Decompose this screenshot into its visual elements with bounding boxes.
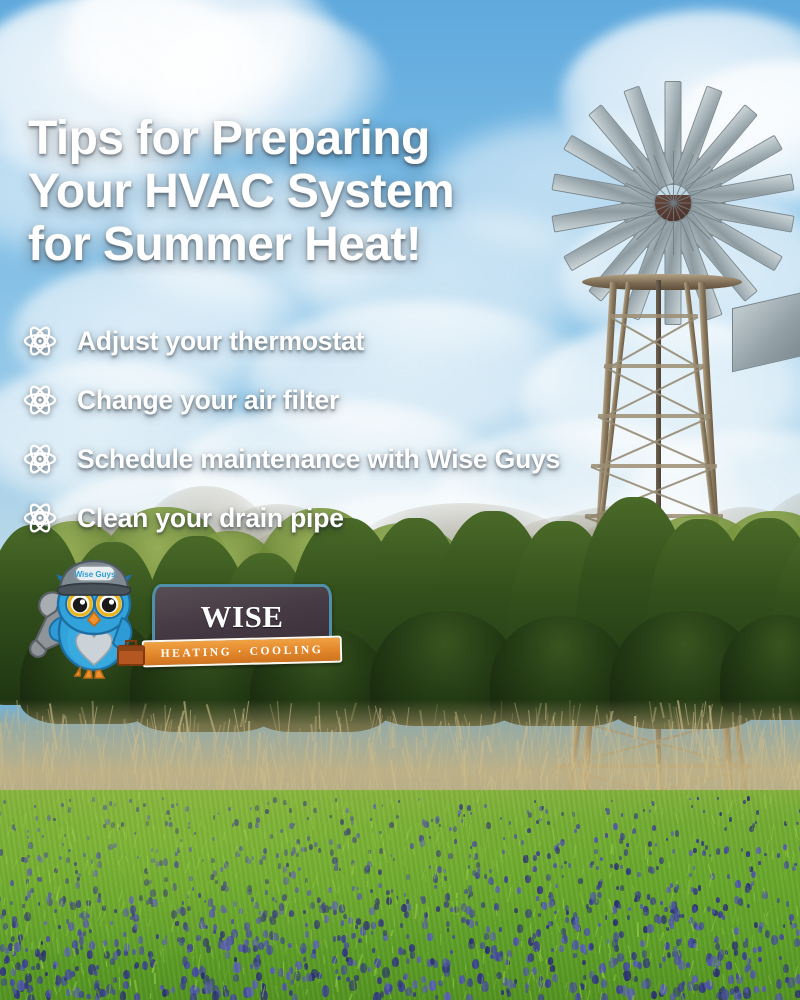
bluebonnet-flower	[587, 907, 592, 914]
bluebonnet-flower	[383, 930, 387, 935]
meadow-grass-blade	[441, 975, 444, 981]
meadow-grass-blade	[614, 974, 617, 981]
meadow-grass-blade	[311, 806, 313, 819]
bluebonnet-flower	[250, 807, 252, 810]
meadow-grass-blade	[200, 923, 203, 930]
bluebonnet-flower	[610, 864, 612, 867]
bluebonnet-flower	[572, 940, 579, 950]
bluebonnet-flower	[180, 839, 182, 842]
bluebonnet-flower	[351, 818, 353, 821]
bluebonnet-flower	[337, 935, 341, 941]
meadow-grass-blade	[599, 936, 602, 952]
bluebonnet-flower	[18, 983, 25, 993]
logo-tagline-text: HEATING · COOLING	[160, 644, 323, 660]
bluebonnet-flower	[599, 963, 606, 973]
meadow-grass-blade	[193, 955, 194, 961]
meadow-grass-blade	[441, 976, 445, 984]
bluebonnet-flower	[783, 964, 789, 973]
meadow-grass-blade	[433, 858, 435, 864]
bluebonnet-flower	[398, 800, 400, 804]
bluebonnet-flower	[459, 975, 465, 984]
bluebonnet-flower	[576, 925, 581, 933]
bluebonnet-flower	[379, 848, 383, 853]
meadow-grass-blade	[293, 798, 295, 807]
bluebonnet-flower	[704, 982, 708, 988]
bluebonnet-flower	[12, 921, 17, 928]
bluebonnet-flower	[464, 889, 468, 895]
bluebonnet-flower	[713, 968, 719, 977]
wise-guys-logo[interactable]: WISE GUYS HEATING · COOLING	[22, 552, 332, 682]
bluebonnet-flower	[794, 863, 796, 867]
grass-blade	[685, 703, 690, 725]
bluebonnet-flower	[353, 933, 356, 938]
grass-blade	[350, 703, 357, 722]
bluebonnet-flower	[754, 922, 758, 928]
meadow-grass-blade	[734, 962, 740, 977]
meadow-grass-blade	[787, 847, 788, 857]
bluebonnet-flower	[209, 909, 215, 918]
meadow-grass-blade	[162, 945, 165, 951]
bluebonnet-flower	[664, 907, 667, 912]
bluebonnet-flower	[329, 815, 332, 819]
bluebonnet-flower	[517, 924, 523, 933]
bluebonnet-flower	[190, 993, 196, 1000]
meadow-grass-blade	[107, 830, 111, 839]
bluebonnet-flower	[171, 987, 175, 993]
bluebonnet-flower	[36, 963, 41, 970]
meadow-grass-blade	[428, 906, 429, 919]
bluebonnet-flower	[0, 944, 5, 952]
meadow-grass-blade	[710, 819, 716, 832]
bluebonnet-flower	[239, 846, 243, 851]
bluebonnet-flower	[477, 868, 480, 873]
bluebonnet-flower	[588, 943, 594, 952]
bluebonnet-flower	[710, 873, 715, 880]
bluebonnet-flower	[614, 863, 619, 871]
meadow-grass-blade	[777, 918, 779, 925]
bluebonnet-flower	[424, 917, 428, 922]
bluebonnet-flower	[280, 937, 285, 944]
bluebonnet-flower	[714, 936, 719, 943]
bluebonnet-flower	[306, 973, 313, 983]
meadow-grass-blade	[496, 909, 498, 916]
bluebonnet-flower	[747, 958, 751, 964]
meadow-grass-blade	[555, 808, 559, 820]
bluebonnet-flower	[551, 948, 554, 952]
bluebonnet-flower	[144, 879, 149, 886]
bluebonnet-flower	[307, 890, 311, 896]
bluebonnet-flower	[596, 885, 600, 891]
bluebonnet-flower	[375, 898, 380, 905]
bluebonnet-flower	[467, 805, 471, 811]
bluebonnet-flower	[305, 931, 310, 938]
bluebonnet-flower	[507, 950, 512, 958]
meadow-grass-blade	[519, 840, 520, 846]
bluebonnet-flower	[37, 855, 41, 861]
meadow-grass-blade	[412, 850, 414, 856]
bluebonnet-flower	[458, 814, 460, 817]
meadow-grass-blade	[649, 953, 652, 962]
meadow-grass-blade	[598, 945, 600, 954]
meadow-grass-blade	[63, 815, 67, 824]
bluebonnet-flower	[404, 973, 408, 978]
bluebonnet-flower	[743, 800, 746, 804]
bluebonnet-flower	[25, 948, 28, 952]
bluebonnet-flower	[466, 994, 473, 1000]
bluebonnet-flower	[226, 936, 232, 945]
bluebonnet-flower	[657, 916, 662, 924]
bluebonnet-flower	[620, 865, 623, 869]
bluebonnet-flower	[200, 917, 204, 922]
bluebonnet-flower	[80, 945, 84, 951]
meadow-grass-blade	[337, 798, 338, 809]
bluebonnet-flower	[367, 861, 372, 868]
meadow-grass-blade	[235, 873, 237, 879]
meadow-grass-blade	[795, 966, 798, 977]
bluebonnet-flower	[561, 812, 564, 816]
meadow-grass-blade	[573, 845, 576, 858]
list-item-label: Schedule maintenance with Wise Guys	[77, 444, 560, 475]
bluebonnet-flower	[458, 810, 461, 815]
meadow-grass-blade	[383, 849, 388, 863]
bluebonnet-flower	[702, 850, 706, 856]
bluebonnet-flower	[251, 897, 254, 902]
meadow-grass-blade	[646, 934, 649, 948]
meadow-grass-blade	[191, 834, 196, 849]
bluebonnet-flower	[616, 985, 622, 994]
meadow-grass-blade	[595, 926, 599, 937]
meadow-grass-blade	[554, 909, 559, 920]
bluebonnet-flower	[642, 950, 648, 958]
meadow-grass-blade	[14, 932, 15, 942]
bluebonnet-flower	[699, 982, 705, 991]
bluebonnet-flower	[419, 835, 423, 841]
bluebonnet-flower	[31, 966, 34, 970]
meadow-grass-blade	[12, 946, 14, 955]
bluebonnet-flower	[468, 895, 471, 899]
grass-blade	[438, 752, 440, 777]
meadow-grass-blade	[264, 832, 265, 839]
bluebonnet-flower	[223, 989, 228, 997]
bluebonnet-flower	[260, 989, 264, 995]
hvac-summer-tips-poster: Tips for Preparing Your HVAC System for …	[0, 0, 800, 1000]
bluebonnet-flower	[561, 865, 564, 869]
bluebonnet-flower	[329, 839, 333, 845]
grass-blade	[247, 767, 249, 785]
bluebonnet-flower	[486, 926, 491, 933]
meadow-grass-blade	[43, 932, 49, 947]
bluebonnet-flower	[103, 824, 106, 828]
bluebonnet-flower	[89, 929, 92, 933]
meadow-grass-blade	[395, 897, 397, 904]
bluebonnet-flower	[681, 993, 685, 999]
bluebonnet-flower	[754, 986, 759, 993]
meadow-grass-blade	[353, 979, 356, 994]
bluebonnet-flower	[552, 974, 557, 982]
bluebonnet-flower	[417, 956, 421, 962]
bluebonnet-flower	[286, 972, 292, 981]
bluebonnet-flower	[110, 921, 113, 925]
bluebonnet-flower	[758, 861, 760, 864]
bluebonnet-flower	[86, 994, 90, 1000]
bluebonnet-flower	[771, 935, 778, 945]
bluebonnet-flower	[41, 941, 44, 945]
bluebonnet-flower	[712, 909, 716, 915]
bluebonnet-flower	[192, 887, 195, 891]
bluebonnet-flower	[466, 919, 470, 925]
meadow-grass-blade	[99, 912, 105, 926]
meadow-grass-blade	[367, 881, 368, 887]
meadow-grass-blade	[284, 946, 287, 955]
meadow-grass-blade	[714, 963, 717, 972]
bluebonnet-flower	[710, 956, 717, 967]
bluebonnet-flower	[181, 976, 187, 984]
meadow-grass-blade	[308, 797, 312, 813]
bluebonnet-flower	[484, 874, 487, 879]
bluebonnet-flower	[756, 847, 761, 854]
meadow-grass-blade	[260, 910, 263, 917]
bluebonnet-flower	[242, 945, 246, 951]
bluebonnet-flower	[785, 977, 789, 983]
meadow-grass-blade	[4, 898, 6, 905]
bluebonnet-flower	[386, 897, 392, 905]
bluebonnet-flower	[143, 803, 146, 807]
bluebonnet-flower	[618, 904, 621, 909]
bluebonnet-flower	[538, 913, 541, 918]
bluebonnet-flower	[670, 883, 673, 888]
meadow-grass-blade	[127, 937, 128, 951]
bluebonnet-flower	[279, 909, 284, 916]
bluebonnet-flower	[693, 888, 698, 895]
bluebonnet-flower	[597, 892, 601, 898]
meadow-grass-blade	[116, 824, 119, 831]
bluebonnet-flower	[217, 812, 219, 815]
bluebonnet-flower	[148, 897, 153, 904]
meadow-grass-blade	[314, 801, 316, 807]
bluebonnet-flower	[136, 807, 139, 812]
bluebonnet-flower	[124, 949, 129, 956]
bluebonnet-flower	[383, 934, 388, 941]
bluebonnet-flower	[633, 960, 638, 967]
meadow-grass-blade	[151, 961, 156, 973]
grass-blade	[84, 720, 85, 740]
meadow-grass-blade	[296, 944, 301, 955]
meadow-grass-blade	[296, 967, 298, 974]
bluebonnet-flower	[468, 919, 474, 928]
bluebonnet-flower	[581, 984, 585, 990]
bluebonnet-flower	[152, 899, 156, 905]
bluebonnet-flower	[253, 945, 258, 952]
bluebonnet-flower	[190, 985, 198, 996]
meadow-grass-blade	[222, 833, 224, 840]
bluebonnet-flower	[537, 886, 542, 894]
bluebonnet-flower	[753, 947, 757, 953]
bluebonnet-flower	[600, 857, 603, 861]
meadow-grass-blade	[546, 959, 548, 964]
bluebonnet-flower	[721, 986, 724, 991]
bluebonnet-flower	[24, 857, 28, 863]
bluebonnet-flower	[351, 821, 354, 825]
bluebonnet-flower	[475, 921, 478, 926]
meadow-grass-blade	[37, 866, 40, 877]
bluebonnet-flower	[722, 915, 725, 919]
grass-blade	[644, 741, 650, 761]
bluebonnet-flower	[213, 929, 216, 934]
meadow-grass-blade	[225, 971, 228, 979]
bluebonnet-flower	[401, 904, 407, 912]
meadow-grass-blade	[105, 924, 110, 938]
bluebonnet-flower	[75, 870, 78, 874]
list-item: Change your air filter	[22, 381, 792, 419]
bluebonnet-flower	[546, 874, 551, 881]
meadow-grass-blade	[418, 795, 420, 808]
grass-blade	[289, 729, 292, 777]
bluebonnet-flower	[528, 937, 534, 946]
bluebonnet-flower	[62, 896, 67, 903]
bluebonnet-flower	[129, 896, 134, 904]
bluebonnet-flower	[410, 951, 415, 959]
meadow-grass-blade	[38, 938, 41, 949]
meadow-grass-blade	[379, 897, 383, 910]
bluebonnet-flower	[270, 916, 276, 925]
bluebonnet-flower	[736, 880, 742, 888]
meadow-grass-blade	[540, 813, 543, 819]
bluebonnet-flower	[385, 982, 390, 990]
bluebonnet-flower	[755, 821, 757, 824]
meadow-grass-blade	[63, 847, 65, 856]
meadow-grass-blade	[23, 813, 27, 828]
bluebonnet-flower	[26, 879, 29, 883]
meadow-grass-blade	[59, 827, 61, 839]
bluebonnet-flower	[27, 855, 29, 858]
bluebonnet-flower	[247, 885, 252, 892]
meadow-grass-blade	[389, 895, 391, 910]
bluebonnet-flower	[718, 992, 725, 1000]
meadow-grass-blade	[755, 875, 756, 880]
bluebonnet-flower	[449, 827, 452, 831]
meadow-grass-blade	[354, 820, 359, 832]
bluebonnet-flower	[324, 905, 329, 912]
bluebonnet-flower	[10, 880, 14, 885]
bluebonnet-flower	[68, 807, 72, 812]
bluebonnet-flower	[252, 980, 258, 988]
bluebonnet-flower	[594, 898, 599, 905]
bluebonnet-flower	[291, 851, 294, 856]
meadow-grass-blade	[609, 872, 612, 878]
bluebonnet-flower	[536, 929, 541, 936]
bluebonnet-flower	[499, 951, 503, 957]
meadow-grass-blade	[319, 908, 324, 921]
bluebonnet-flower	[490, 954, 494, 960]
bluebonnet-flower	[220, 931, 225, 938]
bluebonnet-flower	[213, 815, 216, 819]
meadow-grass-blade	[446, 842, 449, 849]
meadow-grass-blade	[631, 995, 634, 1000]
bluebonnet-flower	[749, 866, 753, 871]
bluebonnet-flower	[422, 921, 428, 929]
bluebonnet-flower	[289, 808, 292, 813]
bluebonnet-flower	[651, 801, 653, 804]
meadow-grass-blade	[119, 977, 120, 990]
bluebonnet-flower	[674, 911, 678, 917]
bluebonnet-flower	[599, 879, 604, 886]
grass-blade	[755, 751, 757, 766]
meadow-grass-blade	[440, 870, 445, 881]
grass-blade	[339, 765, 341, 780]
bluebonnet-flower	[347, 959, 352, 967]
bluebonnet-flower	[64, 947, 71, 957]
meadow-grass-blade	[253, 892, 258, 907]
bluebonnet-flower	[484, 804, 486, 807]
bluebonnet-flower	[481, 981, 489, 992]
meadow-grass-blade	[85, 860, 89, 870]
bluebonnet-flower	[233, 962, 240, 973]
meadow-grass-blade	[632, 975, 635, 985]
bluebonnet-flower	[352, 837, 356, 843]
meadow-grass-blade	[345, 808, 347, 817]
bluebonnet-flower	[633, 976, 638, 983]
bluebonnet-flower	[304, 963, 309, 970]
bluebonnet-flower	[110, 958, 115, 965]
grass-blade	[416, 737, 418, 759]
bluebonnet-flower	[779, 934, 784, 941]
bluebonnet-flower	[369, 907, 375, 915]
meadow-grass-blade	[418, 823, 420, 829]
bluebonnet-flower	[617, 953, 623, 962]
bluebonnet-flower	[667, 952, 671, 958]
bluebonnet-flower	[586, 904, 589, 909]
bluebonnet-flower	[259, 859, 263, 865]
bluebonnet-flower	[545, 809, 548, 814]
meadow-grass-blade	[652, 806, 655, 813]
bluebonnet-flower	[213, 924, 217, 930]
meadow-grass-blade	[88, 863, 94, 875]
bluebonnet-flower	[255, 936, 260, 943]
bluebonnet-flower	[693, 921, 698, 928]
meadow-grass-blade	[181, 843, 184, 849]
meadow-grass-blade	[404, 979, 407, 989]
bluebonnet-flower	[123, 908, 129, 917]
bluebonnet-flower	[670, 924, 674, 929]
meadow-grass-blade	[391, 930, 394, 936]
meadow-grass-blade	[721, 928, 724, 935]
bluebonnet-flower	[734, 927, 739, 934]
bluebonnet-flower	[654, 914, 660, 922]
bluebonnet-flower	[641, 980, 647, 989]
grass-blade	[444, 710, 447, 734]
bluebonnet-flower	[104, 951, 110, 959]
meadow-grass-blade	[741, 890, 746, 904]
bluebonnet-flower	[13, 921, 18, 928]
bluebonnet-flower	[589, 943, 594, 950]
bluebonnet-flower	[225, 942, 228, 947]
meadow-grass-blade	[712, 816, 715, 824]
bluebonnet-flower	[536, 896, 539, 900]
bluebonnet-flower	[293, 823, 295, 826]
bluebonnet-flower	[635, 895, 640, 902]
meadow-grass-blade	[25, 994, 29, 1000]
bluebonnet-flower	[437, 866, 442, 873]
bluebonnet-flower	[239, 908, 243, 913]
bluebonnet-flower	[713, 910, 718, 917]
bluebonnet-flower	[53, 961, 58, 968]
bluebonnet-flower	[223, 908, 227, 913]
meadow-grass-blade	[357, 954, 363, 969]
bluebonnet-flower	[149, 880, 152, 884]
meadow-grass-blade	[425, 952, 428, 958]
bluebonnet-flower	[469, 891, 473, 897]
bluebonnet-flower	[24, 912, 30, 921]
